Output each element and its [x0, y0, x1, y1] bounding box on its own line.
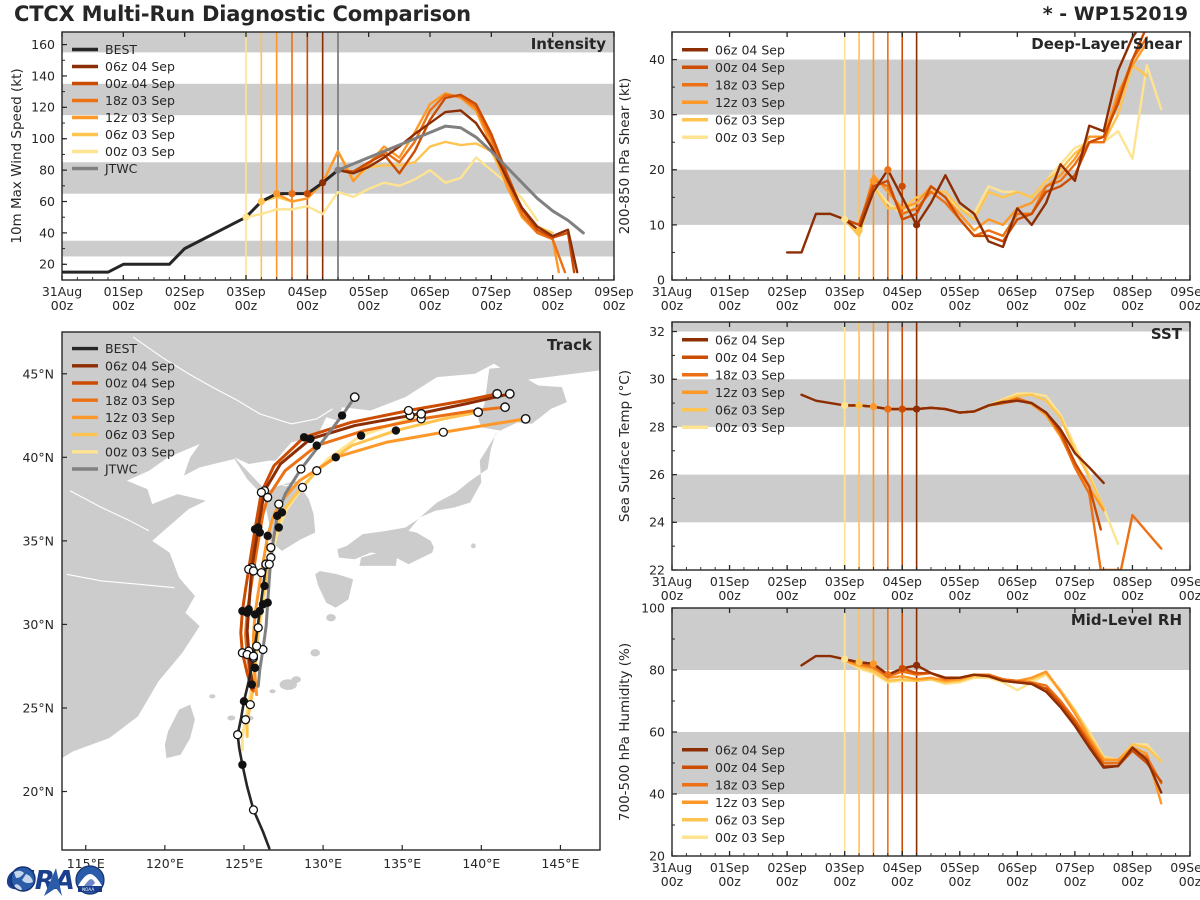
svg-text:80: 80 — [39, 163, 55, 178]
svg-text:40: 40 — [649, 52, 665, 67]
svg-text:06z 03 Sep: 06z 03 Sep — [105, 427, 175, 442]
svg-text:03Sep: 03Sep — [825, 574, 865, 589]
track-marker-filled — [260, 582, 268, 590]
svg-text:12z 03 Sep: 12z 03 Sep — [715, 795, 785, 810]
small-island — [291, 676, 300, 683]
svg-text:40: 40 — [39, 225, 55, 240]
init-marker — [855, 402, 862, 409]
svg-text:00z: 00z — [833, 298, 856, 313]
svg-text:00z 04 Sep: 00z 04 Sep — [715, 350, 785, 365]
init-marker — [913, 405, 920, 412]
svg-text:700-500 hPa Humidity (%): 700-500 hPa Humidity (%) — [617, 643, 633, 821]
svg-text:03Sep: 03Sep — [825, 860, 865, 875]
track-marker-open — [439, 428, 447, 436]
svg-text:00z: 00z — [661, 298, 684, 313]
svg-text:120°E: 120°E — [146, 856, 184, 871]
svg-text:06z 04 Sep: 06z 04 Sep — [105, 358, 175, 373]
svg-text:31Aug: 31Aug — [42, 284, 82, 299]
svg-text:04Sep: 04Sep — [882, 574, 922, 589]
init-marker — [899, 405, 906, 412]
svg-text:00z: 00z — [173, 298, 196, 313]
svg-text:25°N: 25°N — [22, 700, 54, 715]
svg-text:01Sep: 01Sep — [710, 574, 750, 589]
svg-text:31Aug: 31Aug — [652, 860, 692, 875]
svg-text:01Sep: 01Sep — [710, 284, 750, 299]
svg-text:00z 03 Sep: 00z 03 Sep — [715, 830, 785, 845]
svg-text:00z: 00z — [1006, 588, 1029, 603]
svg-text:02Sep: 02Sep — [767, 860, 807, 875]
svg-text:NOAA: NOAA — [82, 887, 94, 892]
svg-text:60: 60 — [39, 194, 55, 209]
svg-text:07Sep: 07Sep — [1055, 860, 1095, 875]
init-marker — [334, 167, 341, 174]
svg-text:06z 03 Sep: 06z 03 Sep — [105, 127, 175, 142]
svg-text:SST: SST — [1151, 325, 1183, 343]
svg-text:20: 20 — [39, 257, 55, 272]
svg-text:10m Max Wind Speed (kt): 10m Max Wind Speed (kt) — [9, 68, 25, 243]
svg-text:40: 40 — [649, 786, 665, 801]
svg-text:00z: 00z — [112, 298, 135, 313]
track-marker-open — [246, 701, 254, 709]
svg-text:00z: 00z — [1179, 588, 1200, 603]
small-island — [471, 543, 476, 548]
track-marker-open — [249, 652, 257, 660]
track-marker-open — [299, 483, 307, 491]
svg-text:00z: 00z — [1064, 874, 1087, 889]
init-marker — [855, 227, 862, 234]
small-island — [209, 694, 215, 698]
svg-text:00z 03 Sep: 00z 03 Sep — [105, 444, 175, 459]
svg-text:32: 32 — [649, 324, 665, 339]
svg-text:BEST: BEST — [105, 341, 137, 356]
track-marker-filled — [251, 664, 259, 672]
svg-text:07Sep: 07Sep — [472, 284, 512, 299]
svg-text:31Aug: 31Aug — [652, 574, 692, 589]
svg-text:130°E: 130°E — [304, 856, 342, 871]
track-marker-filled — [251, 610, 259, 618]
svg-text:00z: 00z — [891, 298, 914, 313]
svg-text:18z 03 Sep: 18z 03 Sep — [715, 77, 785, 92]
svg-text:06Sep: 06Sep — [998, 574, 1038, 589]
svg-text:18z 03 Sep: 18z 03 Sep — [715, 367, 785, 382]
svg-text:00z: 00z — [891, 874, 914, 889]
svg-text:08Sep: 08Sep — [1113, 284, 1153, 299]
init-marker — [870, 403, 877, 410]
svg-text:00z: 00z — [1179, 298, 1200, 313]
svg-text:02Sep: 02Sep — [767, 284, 807, 299]
svg-text:00z: 00z — [661, 874, 684, 889]
svg-text:140°E: 140°E — [462, 856, 500, 871]
svg-text:06z 04 Sep: 06z 04 Sep — [715, 42, 785, 57]
svg-text:00z: 00z — [949, 874, 972, 889]
svg-text:35°N: 35°N — [22, 533, 54, 548]
svg-text:04Sep: 04Sep — [882, 284, 922, 299]
svg-text:00z: 00z — [1121, 874, 1144, 889]
track-endpoint-marker — [351, 393, 359, 401]
svg-text:08Sep: 08Sep — [1113, 574, 1153, 589]
init-marker — [870, 177, 877, 184]
init-marker — [319, 179, 326, 186]
track-marker-filled — [243, 609, 251, 617]
svg-text:06Sep: 06Sep — [998, 284, 1038, 299]
svg-text:00z: 00z — [235, 298, 258, 313]
svg-text:00z: 00z — [541, 298, 564, 313]
panel-shear: 01020304031Aug00z01Sep00z02Sep00z03Sep00… — [617, 15, 1200, 313]
svg-text:08Sep: 08Sep — [533, 284, 573, 299]
svg-text:00z: 00z — [1179, 874, 1200, 889]
svg-text:07Sep: 07Sep — [1055, 284, 1095, 299]
small-island — [269, 689, 275, 693]
svg-text:06Sep: 06Sep — [998, 860, 1038, 875]
track-marker-filled — [264, 532, 272, 540]
init-marker — [870, 660, 877, 667]
svg-text:00z: 00z — [296, 298, 319, 313]
svg-text:09Sep: 09Sep — [1170, 284, 1200, 299]
svg-text:00z: 00z — [357, 298, 380, 313]
init-marker — [913, 662, 920, 669]
svg-text:04Sep: 04Sep — [882, 860, 922, 875]
svg-text:00z: 00z — [776, 588, 799, 603]
svg-text:Track: Track — [547, 336, 593, 354]
svg-text:Mid-Level RH: Mid-Level RH — [1071, 611, 1182, 629]
track-marker-open — [254, 624, 262, 632]
svg-text:60: 60 — [649, 724, 665, 739]
svg-text:20°N: 20°N — [22, 784, 54, 799]
svg-text:05Sep: 05Sep — [940, 284, 980, 299]
init-marker — [288, 190, 295, 197]
svg-text:100: 100 — [641, 600, 665, 615]
track-marker-open — [313, 467, 321, 475]
svg-text:20: 20 — [649, 162, 665, 177]
svg-text:03Sep: 03Sep — [825, 284, 865, 299]
svg-text:28: 28 — [649, 419, 665, 434]
track-marker-filled — [278, 508, 286, 516]
track-marker-filled — [259, 600, 267, 608]
init-marker — [855, 659, 862, 666]
svg-text:JTWC: JTWC — [104, 161, 138, 176]
svg-text:00z 04 Sep: 00z 04 Sep — [105, 376, 175, 391]
track-marker-open — [265, 560, 273, 568]
init-marker — [273, 190, 280, 197]
init-marker — [304, 190, 311, 197]
svg-text:05Sep: 05Sep — [349, 284, 389, 299]
init-marker — [884, 405, 891, 412]
init-marker — [841, 402, 848, 409]
track-marker-filled — [338, 411, 346, 419]
svg-text:02Sep: 02Sep — [165, 284, 205, 299]
svg-text:30: 30 — [649, 372, 665, 387]
track-marker-open — [257, 569, 265, 577]
svg-text:200-850 hPa Shear (kt): 200-850 hPa Shear (kt) — [617, 78, 633, 235]
init-marker — [884, 671, 891, 678]
svg-text:145°E: 145°E — [541, 856, 579, 871]
svg-text:00z: 00z — [776, 874, 799, 889]
init-marker — [841, 216, 848, 223]
track-marker-open — [275, 500, 283, 508]
svg-text:12z 03 Sep: 12z 03 Sep — [105, 410, 175, 425]
svg-text:120: 120 — [31, 100, 55, 115]
svg-text:00z: 00z — [718, 588, 741, 603]
svg-text:26: 26 — [649, 467, 665, 482]
svg-text:03Sep: 03Sep — [226, 284, 266, 299]
svg-text:18z 03 Sep: 18z 03 Sep — [105, 93, 175, 108]
svg-text:05Sep: 05Sep — [940, 574, 980, 589]
svg-text:30°N: 30°N — [22, 617, 54, 632]
small-island — [310, 649, 319, 656]
init-marker — [841, 656, 848, 663]
svg-text:12z 03 Sep: 12z 03 Sep — [715, 95, 785, 110]
svg-text:06z 04 Sep: 06z 04 Sep — [105, 59, 175, 74]
shaded-band — [672, 322, 1190, 332]
svg-text:00z: 00z — [51, 298, 74, 313]
track-marker-filled — [300, 433, 308, 441]
panel-rh: 2040608010031Aug00z01Sep00z02Sep00z03Sep… — [617, 600, 1200, 889]
panel-sst: 22242628303231Aug00z01Sep00z02Sep00z03Se… — [617, 322, 1200, 603]
track-marker-open — [264, 493, 272, 501]
svg-text:00z: 00z — [833, 588, 856, 603]
track-endpoint-marker — [417, 410, 425, 418]
track-marker-filled — [332, 453, 340, 461]
svg-text:06z 03 Sep: 06z 03 Sep — [715, 402, 785, 417]
init-marker — [899, 183, 906, 190]
init-marker — [913, 221, 920, 228]
track-marker-open — [242, 716, 250, 724]
svg-text:00z: 00z — [776, 298, 799, 313]
svg-text:80: 80 — [649, 662, 665, 677]
svg-text:JTWC: JTWC — [104, 462, 138, 477]
svg-text:125°E: 125°E — [225, 856, 263, 871]
svg-text:00z: 00z — [1121, 588, 1144, 603]
svg-text:31Aug: 31Aug — [652, 284, 692, 299]
svg-text:30: 30 — [649, 107, 665, 122]
svg-text:06z 03 Sep: 06z 03 Sep — [715, 812, 785, 827]
svg-text:140: 140 — [31, 68, 55, 83]
cira-logo: CIRA NOAA — [4, 858, 122, 898]
svg-text:01Sep: 01Sep — [104, 284, 144, 299]
panel-intensity: 2040608010012014016031Aug00z01Sep00z02Se… — [9, 32, 634, 313]
init-marker — [884, 166, 891, 173]
svg-text:00z: 00z — [1121, 298, 1144, 313]
track-marker-open — [234, 731, 242, 739]
track-marker-filled — [238, 761, 246, 769]
track-marker-filled — [357, 431, 365, 439]
svg-text:40°N: 40°N — [22, 450, 54, 465]
track-marker-open — [297, 465, 305, 473]
small-island — [227, 715, 235, 720]
diagnostic-figure: 2040608010012014016031Aug00z01Sep00z02Se… — [0, 0, 1200, 900]
svg-text:10: 10 — [649, 217, 665, 232]
svg-text:09Sep: 09Sep — [1170, 860, 1200, 875]
track-marker-filled — [256, 528, 264, 536]
svg-text:00z: 00z — [949, 588, 972, 603]
svg-text:06z 04 Sep: 06z 04 Sep — [715, 742, 785, 757]
svg-text:00z: 00z — [603, 298, 626, 313]
svg-text:00z: 00z — [718, 298, 741, 313]
svg-text:00z: 00z — [949, 298, 972, 313]
track-marker-filled — [248, 680, 256, 688]
svg-text:24: 24 — [649, 515, 665, 530]
init-marker — [258, 198, 265, 205]
svg-text:08Sep: 08Sep — [1113, 860, 1153, 875]
track-marker-open — [249, 806, 257, 814]
svg-text:00z 03 Sep: 00z 03 Sep — [105, 144, 175, 159]
shaded-band — [672, 475, 1190, 523]
svg-text:00z: 00z — [480, 298, 503, 313]
svg-text:06z 03 Sep: 06z 03 Sep — [715, 112, 785, 127]
panel-track: 20°N25°N30°N35°N40°N45°N115°E120°E125°E1… — [22, 332, 600, 871]
track-marker-filled — [392, 426, 400, 434]
svg-text:06z 04 Sep: 06z 04 Sep — [715, 332, 785, 347]
svg-text:18z 03 Sep: 18z 03 Sep — [105, 393, 175, 408]
track-marker-open — [267, 544, 275, 552]
svg-text:Sea Surface Temp (°C): Sea Surface Temp (°C) — [617, 370, 633, 522]
svg-text:00z 04 Sep: 00z 04 Sep — [715, 760, 785, 775]
svg-text:00z 04 Sep: 00z 04 Sep — [105, 76, 175, 91]
svg-text:00z: 00z — [1006, 298, 1029, 313]
track-marker-filled — [275, 523, 283, 531]
track-marker-open — [249, 567, 257, 575]
track-marker-open — [253, 642, 261, 650]
svg-text:Intensity: Intensity — [531, 35, 607, 53]
svg-text:160: 160 — [31, 37, 55, 52]
svg-text:02Sep: 02Sep — [767, 574, 807, 589]
track-marker-open — [405, 407, 413, 415]
svg-text:00z 03 Sep: 00z 03 Sep — [715, 420, 785, 435]
svg-text:00z 03 Sep: 00z 03 Sep — [715, 130, 785, 145]
svg-text:12z 03 Sep: 12z 03 Sep — [105, 110, 175, 125]
small-island — [326, 614, 335, 621]
svg-text:100: 100 — [31, 131, 55, 146]
svg-text:04Sep: 04Sep — [288, 284, 328, 299]
svg-text:45°N: 45°N — [22, 366, 54, 381]
svg-text:00z: 00z — [419, 298, 442, 313]
svg-text:135°E: 135°E — [383, 856, 421, 871]
init-marker — [242, 214, 249, 221]
svg-text:00z: 00z — [718, 874, 741, 889]
track-endpoint-marker — [521, 415, 529, 423]
svg-text:BEST: BEST — [105, 42, 137, 57]
svg-text:00z: 00z — [833, 874, 856, 889]
track-endpoint-marker — [501, 403, 509, 411]
svg-text:00z: 00z — [1006, 874, 1029, 889]
svg-text:18z 03 Sep: 18z 03 Sep — [715, 777, 785, 792]
svg-text:07Sep: 07Sep — [1055, 574, 1095, 589]
svg-text:00z: 00z — [1064, 298, 1087, 313]
init-marker — [899, 665, 906, 672]
svg-text:00z: 00z — [891, 588, 914, 603]
svg-text:09Sep: 09Sep — [594, 284, 634, 299]
svg-text:05Sep: 05Sep — [940, 860, 980, 875]
svg-text:00z 04 Sep: 00z 04 Sep — [715, 60, 785, 75]
svg-text:09Sep: 09Sep — [1170, 574, 1200, 589]
track-endpoint-marker — [474, 408, 482, 416]
svg-text:06Sep: 06Sep — [410, 284, 450, 299]
svg-text:00z: 00z — [1064, 588, 1087, 603]
svg-text:01Sep: 01Sep — [710, 860, 750, 875]
svg-text:12z 03 Sep: 12z 03 Sep — [715, 385, 785, 400]
track-marker-filled — [313, 441, 321, 449]
svg-text:Deep-Layer Shear: Deep-Layer Shear — [1031, 35, 1182, 53]
shaded-band — [672, 170, 1190, 225]
track-endpoint-marker — [506, 390, 514, 398]
track-endpoint-marker — [493, 390, 501, 398]
